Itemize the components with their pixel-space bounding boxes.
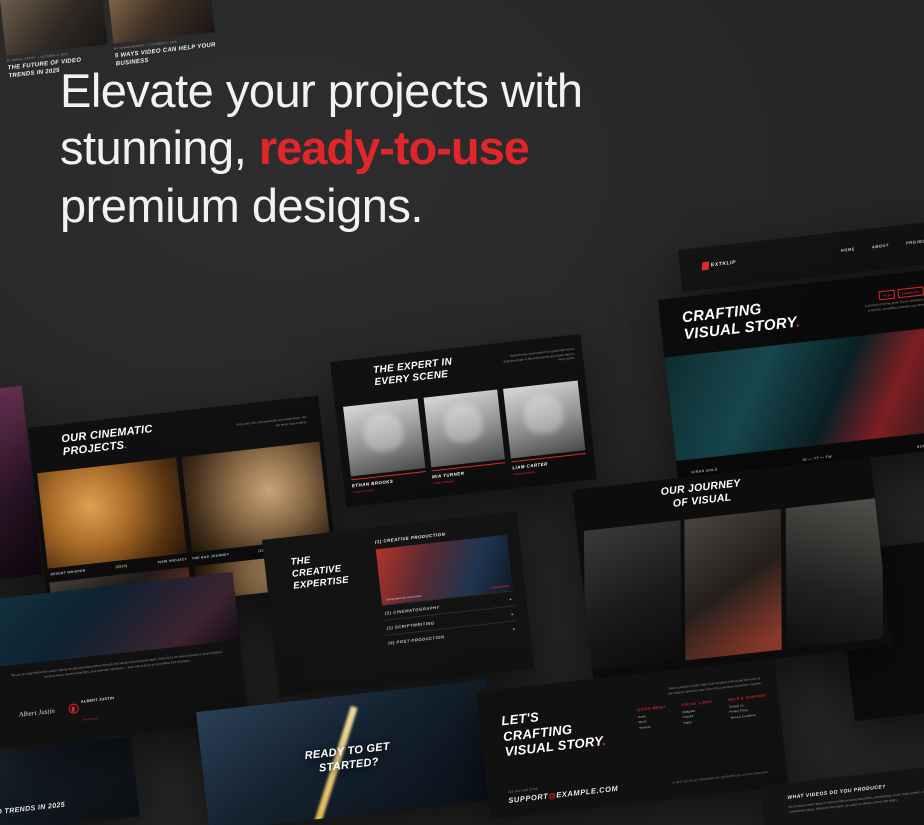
journey-image-row (577, 498, 891, 671)
project-image-desert-whisper[interactable] (37, 458, 186, 569)
hero-title: CRAFTING VISUAL STORY. (681, 296, 801, 344)
footer-description: Have a project in mind? Start a conversa… (667, 676, 763, 696)
blog-post-2[interactable]: BY SOPHIA MORRIS — OCTOBER 5, 2025 5 WAY… (107, 0, 217, 68)
nav-links[interactable]: HOME ABOUT PROJECTS ˅ PAGES (840, 233, 924, 253)
poster-stage: Elevate your projects with stunning, rea… (0, 0, 924, 825)
journey-image-1 (584, 520, 682, 672)
journey-title: OUR JOURNEY OF VISUAL (660, 477, 743, 512)
hero-caption-right: SCROLL TO EXPLORE (917, 440, 924, 449)
projects-description: From short film, documentaries and made … (235, 415, 308, 432)
hero-image (664, 324, 924, 461)
accordion-image-caption: Turning ideas into visual stories (385, 595, 421, 602)
about-signature: Albert Justin (19, 707, 56, 719)
projects-title-dot: . (124, 439, 129, 451)
blog-post-1-image (0, 0, 108, 56)
headline-line-2-prefix: stunning, (60, 121, 246, 174)
project-1-year: (2023) (115, 564, 127, 569)
journey-image-2 (685, 509, 783, 661)
headline-accent: ready-to-use (259, 121, 529, 174)
project-2-name: THE BAD JOURNEY (192, 552, 230, 560)
footer-title: LET'S CRAFTING VISUAL STORY. (501, 702, 607, 760)
template-card-team[interactable]: THE EXPERT IN EVERY SCENE Behind every g… (330, 334, 597, 507)
hero-tag-cinematic[interactable]: CINEMATIC (897, 286, 924, 298)
expertise-title: THE CREATIVE EXPERTISE (290, 548, 372, 593)
footer-email-prefix: SUPPORT (508, 792, 549, 805)
expertise-title-line-1: THE (290, 555, 311, 568)
footer-link-columns: QUICK MENU Home About Services SOCIAL LI… (637, 694, 769, 731)
team-member-3-photo (503, 381, 585, 459)
headline-line-3: premium designs. (60, 179, 423, 232)
logo-mark-icon (702, 262, 710, 271)
template-card-hero[interactable]: CRAFTING VISUAL STORY. FILM CINEMATIC CA… (658, 267, 924, 479)
footer-contact: +62 812 345 6789 SUPPORT@EXAMPLE.COM (507, 778, 619, 805)
journey-image-3 (785, 497, 883, 649)
footer-column-quick-menu: QUICK MENU Home About Services (637, 705, 668, 731)
footer-copyright: © 2025 EXTKLIP. POWERED BY ENTERPRISE CL… (672, 771, 768, 785)
team-member-2[interactable]: MIA TURNER Project Manager (423, 390, 507, 485)
expertise-accordion[interactable]: (1) CREATIVE PRODUCTION Turning ideas in… (375, 525, 519, 650)
hero-title-dot: . (795, 314, 801, 331)
page-title: Elevate your projects with stunning, rea… (60, 62, 700, 234)
footer-column-social-links: SOCIAL LINKS Instagram Youtube Twitter (681, 700, 715, 726)
accordion-item-post-production-toggle-icon[interactable]: + (512, 626, 515, 631)
accordion-learn-more-button[interactable]: LEARN MORE (491, 585, 509, 590)
accordion-item-post-production-label: (4) POST-PRODUCTION (388, 634, 445, 645)
footer-column-quick-menu-heading: QUICK MENU (637, 705, 665, 712)
footer-column-social-links-heading: SOCIAL LINKS (681, 700, 713, 707)
footer-title-dot: . (601, 733, 607, 748)
brand-logo[interactable]: EXTKLIP (702, 259, 737, 271)
about-badge: ALBERT JUSTIN Film Director (67, 686, 117, 727)
team-member-1-photo (343, 398, 425, 476)
project-1-name: DESERT WHISPER (50, 568, 85, 576)
nav-item-projects[interactable]: PROJECTS ˅ (906, 237, 924, 245)
logo-text: EXTKLIP (711, 260, 737, 269)
team-member-3[interactable]: LIAM CARTER Cinematographer (503, 381, 587, 476)
project-1-action[interactable]: VIEW PROJECT (157, 557, 187, 564)
template-card-footer[interactable]: LET'S CRAFTING VISUAL STORY. Have a proj… (476, 659, 788, 820)
about-badge-name: ALBERT JUSTIN (81, 696, 115, 704)
headline-line-1: Elevate your projects with (60, 64, 583, 117)
footer-column-help-support: HELP & SUPPORT Contact Us Privacy Policy… (728, 694, 769, 721)
team-member-1[interactable]: ETHAN BROOKS Creative Director (343, 398, 427, 493)
about-badge-role: Film Director (83, 717, 98, 722)
team-member-2-photo (423, 390, 505, 468)
projects-title: OUR CINEMATIC PROJECTS. (61, 423, 155, 459)
team-title: THE EXPERT IN EVERY SCENE (373, 356, 454, 389)
hero-tag-film[interactable]: FILM (879, 290, 896, 301)
accordion-item-scriptwriting-label: (3) SCRIPTWRITING (386, 620, 435, 630)
about-signature-row: Albert Justin ALBERT JUSTIN Film Directo… (17, 686, 117, 733)
template-card-journey[interactable]: OUR JOURNEY OF VISUAL (572, 457, 891, 679)
team-member-row: ETHAN BROOKS Creative Director MIA TURNE… (343, 381, 587, 494)
accordion-item-cinematography-toggle-icon[interactable]: + (509, 596, 512, 601)
accordion-item-scriptwriting-toggle-icon[interactable]: + (511, 611, 514, 616)
nav-item-about[interactable]: ABOUT (872, 242, 890, 249)
edge-card-blog-sliver: VIDEO TRENDS IN 2025 (0, 737, 140, 825)
team-description: Behind every great project is a great te… (498, 347, 575, 369)
badge-logo-icon (68, 703, 79, 714)
nav-item-home[interactable]: HOME (840, 246, 855, 253)
template-card-expertise[interactable]: THE CREATIVE EXPERTISE (1) CREATIVE PROD… (262, 511, 534, 697)
